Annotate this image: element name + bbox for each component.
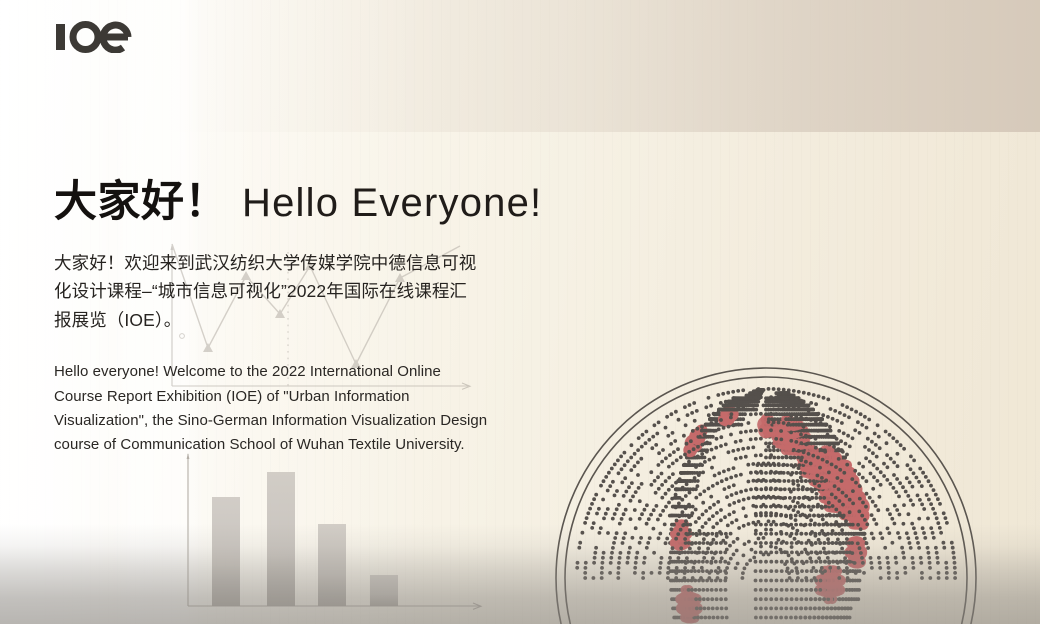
- slide-root: 大家好！ Hello Everyone! 大家好！欢迎来到武汉纺织大学传媒学院中…: [0, 0, 1040, 624]
- page-title-english: Hello Everyone!: [242, 182, 542, 224]
- intro-paragraph-english-line: Visualization", the Sino-German Informat…: [54, 409, 534, 433]
- intro-paragraph-chinese-line: 大家好！欢迎来到武汉纺织大学传媒学院中德信息可视: [54, 249, 524, 277]
- content-block: 大家好！ Hello Everyone! 大家好！欢迎来到武汉纺织大学传媒学院中…: [54, 180, 584, 458]
- page-title: 大家好！ Hello Everyone!: [54, 180, 584, 225]
- intro-paragraph-english: Hello everyone! Welcome to the 2022 Inte…: [54, 360, 534, 458]
- intro-paragraph-chinese-line: 化设计课程–“城市信息可视化”2022年国际在线课程汇: [54, 277, 524, 305]
- intro-paragraph-english-line: course of Communication School of Wuhan …: [54, 433, 534, 457]
- intro-paragraph-chinese-line: 报展览（IOE）。: [54, 306, 524, 334]
- ioe-logo[interactable]: [54, 20, 140, 54]
- intro-paragraph-chinese: 大家好！欢迎来到武汉纺织大学传媒学院中德信息可视 化设计课程–“城市信息可视化”…: [54, 249, 524, 334]
- ioe-logo-icon: [54, 21, 140, 53]
- page-title-chinese: 大家好！: [54, 180, 228, 225]
- intro-paragraph-english-line: Course Report Exhibition (IOE) of "Urban…: [54, 385, 534, 409]
- background-bottom-fade: [0, 524, 1040, 624]
- intro-paragraph-english-line: Hello everyone! Welcome to the 2022 Inte…: [54, 360, 534, 384]
